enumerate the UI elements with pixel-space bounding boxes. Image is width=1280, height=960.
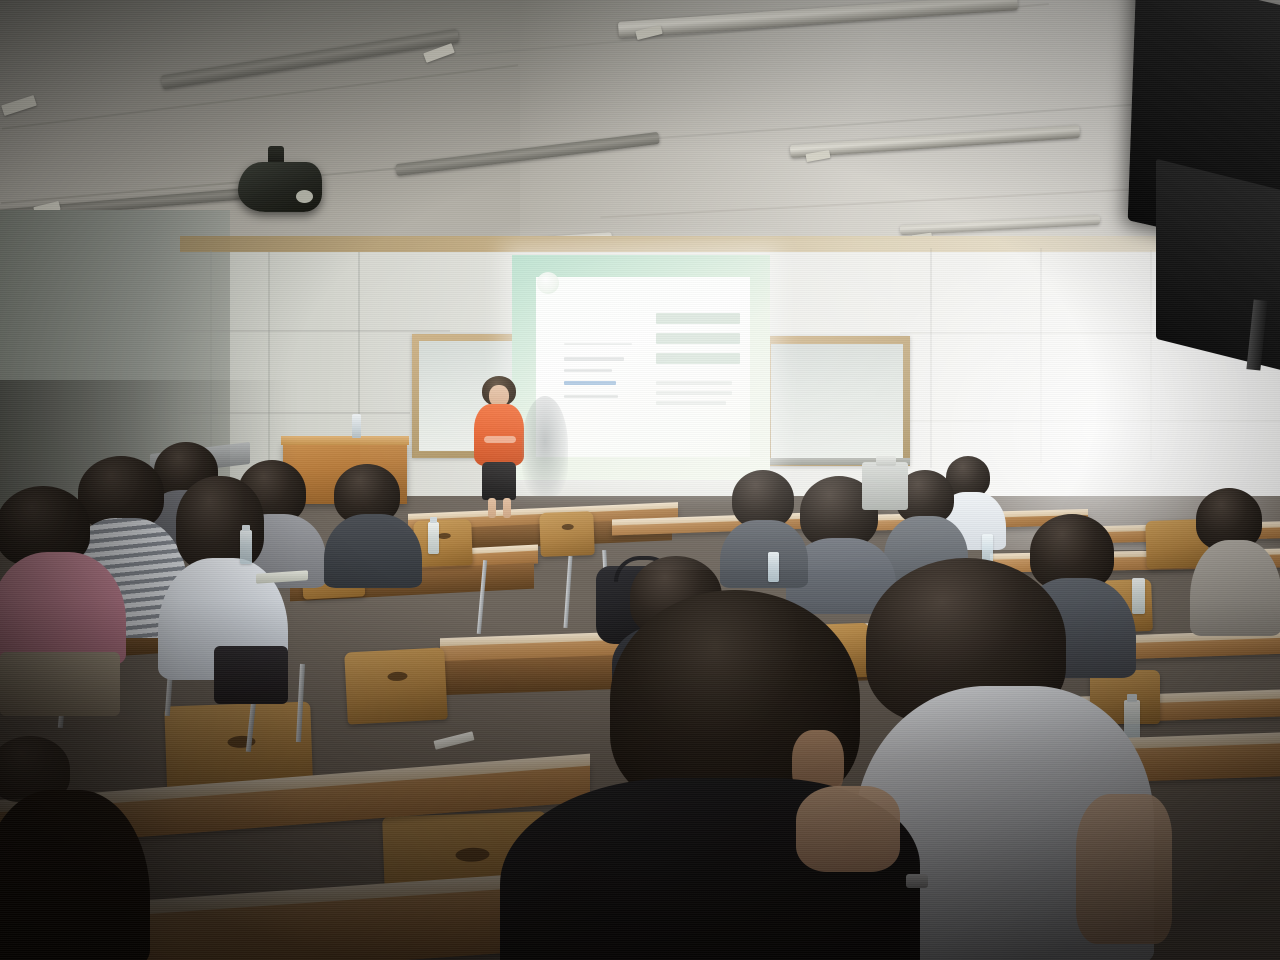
lectern-top	[281, 436, 409, 445]
wall-seam	[268, 252, 270, 482]
skirt	[214, 646, 288, 704]
classroom-photo-scene	[0, 0, 1280, 960]
bottle-cap	[430, 517, 437, 523]
slide-text-line	[656, 381, 732, 385]
presentation-slide	[536, 277, 750, 457]
water-bottle	[768, 552, 779, 582]
chair-handle-hole	[455, 847, 489, 862]
bottle-cap	[242, 525, 250, 531]
water-bottle	[352, 414, 361, 438]
torso	[0, 790, 150, 960]
slide-text-line	[564, 357, 624, 361]
water-bottle	[428, 522, 439, 554]
chair	[539, 511, 595, 557]
student-bottom-left	[0, 736, 150, 960]
wristwatch	[906, 874, 928, 888]
bin-lid	[876, 456, 896, 466]
wall-seam	[180, 330, 450, 332]
slide-text-line	[564, 343, 632, 345]
projector-lens-icon	[296, 190, 313, 203]
student-pink-shirt	[0, 486, 126, 700]
slide-text-line	[564, 369, 612, 372]
wall-seam	[180, 412, 410, 414]
torso	[0, 552, 126, 666]
slide-text-line	[656, 401, 726, 405]
presenter-shadow	[522, 396, 568, 496]
chair	[413, 519, 473, 567]
slide-logo-icon	[537, 272, 559, 294]
slide-table-row	[656, 353, 740, 364]
slide-text-line	[564, 395, 618, 398]
slide-table-row	[656, 313, 740, 324]
slide-text-line-highlight	[564, 381, 616, 385]
chair	[344, 647, 448, 724]
student-foreground-dark	[500, 590, 920, 960]
chair-handle-hole	[387, 671, 407, 681]
presenter-leg	[488, 498, 496, 518]
chair-handle-hole	[562, 524, 574, 530]
student-far-right	[1190, 488, 1280, 636]
presenter-arms	[484, 436, 516, 443]
student-mid-left	[324, 464, 422, 586]
torso	[1190, 540, 1280, 636]
torso	[324, 514, 422, 588]
projector-icon	[238, 162, 322, 212]
water-bottle	[240, 530, 252, 564]
whiteboard-right	[771, 344, 903, 458]
presenter-leg	[503, 498, 511, 518]
storage-bin	[862, 462, 908, 510]
presenter-top	[474, 404, 524, 466]
trousers	[0, 652, 120, 716]
presenter	[470, 376, 528, 520]
slide-text-line	[656, 391, 732, 395]
slide-table-row	[656, 333, 740, 344]
pen	[434, 731, 475, 749]
hand	[796, 786, 900, 872]
arm	[1076, 794, 1172, 944]
presenter-skirt	[482, 462, 516, 500]
chair-handle-hole	[438, 533, 451, 539]
